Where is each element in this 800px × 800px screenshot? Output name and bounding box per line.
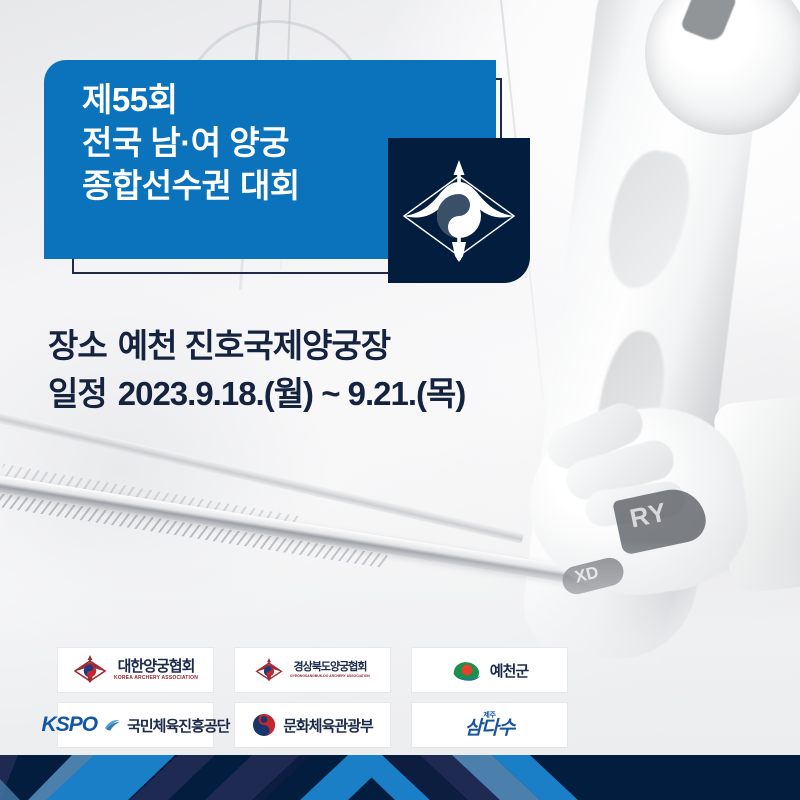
event-poster: RY XD 제55회 전국 남·여 양궁 종합선수권 대회 장소 bbox=[0, 0, 800, 800]
sponsor-logo-gyeongsangbukdo-archery-association[interactable]: 경상북도양궁협회 GYEONGSANGBUK-DO ARCHERY ASSOCI… bbox=[235, 648, 390, 692]
sponsor-name-ko: 대한양궁협회 bbox=[118, 659, 195, 674]
sponsor-name-ko: 국민체육진흥공단 bbox=[127, 715, 229, 736]
sponsor-logo-grid: 대한양궁협회 KOREA ARCHERY ASSOCIATION 경상북도양궁협… bbox=[58, 648, 567, 747]
bottom-chevron-bar bbox=[0, 755, 800, 800]
venue-label: 장소 bbox=[48, 322, 107, 370]
archery-eye-mark-icon bbox=[73, 654, 107, 686]
taegeuk-government-mark-icon bbox=[252, 713, 276, 737]
sponsor-logo-ministry-of-culture-sports-tourism[interactable]: 문화체육관광부 bbox=[235, 703, 390, 747]
sponsor-text-block: 대한양궁협회 KOREA ARCHERY ASSOCIATION bbox=[114, 659, 198, 681]
sponsor-text-block: 경상북도양궁협회 GYEONGSANGBUK-DO ARCHERY ASSOCI… bbox=[290, 662, 370, 678]
sponsor-logo-yecheon-gun[interactable]: 예천군 bbox=[412, 648, 567, 692]
chevron-pattern bbox=[0, 755, 800, 800]
yecheon-leaf-mark-icon bbox=[451, 657, 483, 683]
event-details: 장소 예천 진호국제양궁장 일정 2023.9.18.(월) ~ 9.21.(목… bbox=[48, 322, 465, 418]
sponsor-logo-kspo[interactable]: KSPO 국민체육진흥공단 bbox=[58, 703, 213, 747]
sponsor-name-ko: 경상북도양궁협회 bbox=[294, 662, 367, 673]
schedule-label: 일정 bbox=[48, 370, 107, 418]
sponsor-logo-jeju-samdasoo[interactable]: 제주 삼다수 bbox=[412, 703, 567, 747]
schedule-value: 2023.9.18.(월) ~ 9.21.(목) bbox=[118, 370, 466, 418]
archery-eye-mark-icon bbox=[255, 657, 283, 684]
sponsor-name-en: KOREA ARCHERY ASSOCIATION bbox=[114, 676, 198, 681]
sponsor-text-block: 제주 삼다수 bbox=[465, 712, 514, 738]
sponsor-name-ko: 문화체육관광부 bbox=[283, 715, 373, 736]
venue-row: 장소 예천 진호국제양궁장 bbox=[48, 322, 465, 370]
association-emblem bbox=[388, 138, 530, 283]
sponsor-name-ko: 삼다수 bbox=[465, 719, 514, 738]
sponsor-name-en: GYEONGSANGBUK-DO ARCHERY ASSOCIATION bbox=[290, 675, 370, 678]
sponsor-name-en: KSPO bbox=[42, 713, 98, 737]
archery-bow-arrow-taeguk-icon bbox=[388, 138, 530, 283]
kspo-swoosh-mark-icon bbox=[104, 718, 120, 732]
sponsor-name-ko: 예천군 bbox=[490, 660, 528, 681]
venue-value: 예천 진호국제양궁장 bbox=[118, 322, 390, 370]
sponsor-logo-korea-archery-association[interactable]: 대한양궁협회 KOREA ARCHERY ASSOCIATION bbox=[58, 648, 213, 692]
schedule-row: 일정 2023.9.18.(월) ~ 9.21.(목) bbox=[48, 370, 465, 418]
